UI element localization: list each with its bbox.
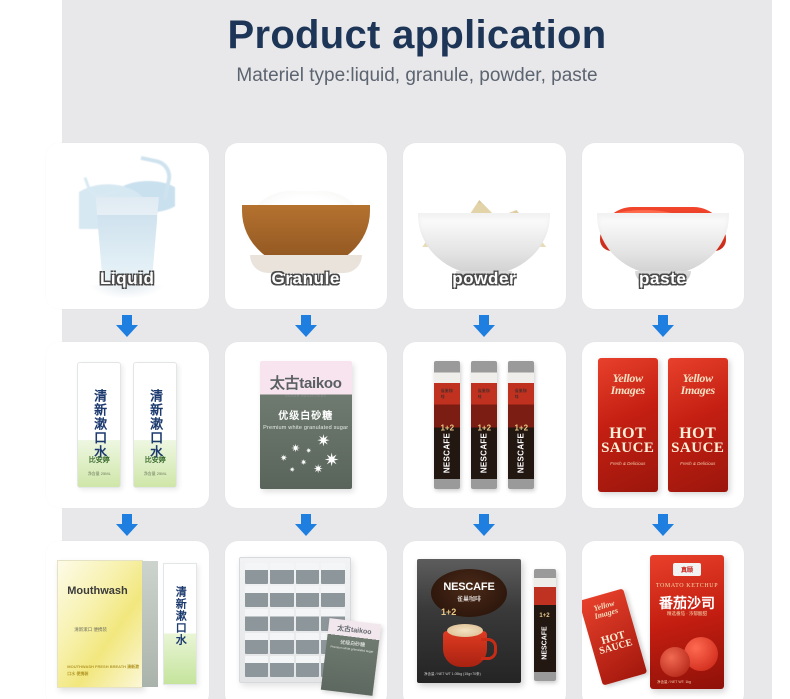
mouthwash-sachet: 清新漱口水 比安婷 净含量 25ML [77,362,121,488]
hot-sauce-subtitle: Fresh & Delicious [680,461,715,466]
nescafe-stick: 雀巢咖啡 1+2 NESCAFE [508,361,534,489]
ketchup-pouch-image: 真颐 TOMATO KETCHUP 番茄沙司 精选番茄 · 浓郁酸甜 净含量 /… [582,541,745,699]
sachet-card-mouthwash[interactable]: 清新漱口水 比安婷 净含量 25ML 清新漱口水 比安婷 净含量 25ML [46,342,209,508]
arrow-cell [46,508,209,541]
header: Product application Materiel type:liquid… [62,12,772,87]
sachet-thumb [270,656,294,677]
retail-card-ketchup[interactable]: 真颐 TOMATO KETCHUP 番茄沙司 精选番茄 · 浓郁酸甜 净含量 /… [582,541,745,699]
box-variant: 1+2 [441,607,456,617]
taikoo-sugar-sachet-image: 太古taikoo SUGAR INDUSTRIES 优级白砂糖 Premium … [225,342,388,508]
sachet-brand: 比安婷 [89,455,110,465]
box-cn-text: 雀巢咖啡 [457,594,481,603]
mouthwash-sachet: 清新漱口水 [163,563,197,685]
sugar-bulk-bag-image: 太古taikoo 优级白砂糖 Premium white granulated … [225,541,388,699]
stick-variant: 1+2 [477,423,491,432]
mouthwash-box-image: Mouthwash 清新漱口 便携装 MOUTHWASH FRESH BREAT… [46,541,209,699]
pouch-net-weight: 净含量 / NET WT: 1kg [657,680,691,685]
retail-card-coffee[interactable]: NESCAFE 雀巢咖啡 1+2 净含量 / NET WT 1.05kg (15… [403,541,566,699]
nescafe-stick: 雀巢咖啡 1+2 NESCAFE [434,361,460,489]
arrow-down-icon [470,315,498,337]
sachet-thumb [245,586,269,607]
taikoo-logo: 太古taikoo [336,623,372,637]
hot-sauce-line2: SAUCE [601,441,654,456]
stick-cn-text: 雀巢咖啡 [515,388,528,400]
arrow-down-icon [113,514,141,536]
hot-sauce-script-logo: Yellow Images [582,596,630,624]
sachet-thumb [245,609,269,630]
material-card-paste[interactable]: paste [582,143,745,309]
retail-card-sugar[interactable]: 太古taikoo 优级白砂糖 Premium white granulated … [225,541,388,699]
stick-brand: NESCAFE [480,433,489,473]
arrow-down-icon [649,514,677,536]
sachet-cn-text: 清新漱口水 [148,389,162,459]
box-brand: NESCAFE [443,581,494,593]
arrow-down-icon [470,514,498,536]
taikoo-logo: 太古taikoo [270,372,342,393]
retail-card-mouthwash[interactable]: Mouthwash 清新漱口 便携装 MOUTHWASH FRESH BREAT… [46,541,209,699]
sachet-thumb [270,563,294,584]
arrow-row-one [46,309,744,342]
sachet-brand: 比安婷 [145,455,166,465]
sachet-thumb [270,609,294,630]
box-side-panel [142,561,158,687]
hot-sauce-subtitle: Fresh & Delicious [610,461,645,466]
pouch-cn-text: 番茄沙司 [659,593,715,613]
hot-sauce-sachet: Yellow Images HOT SAUCE Fresh & Deliciou… [668,358,728,492]
white-bowl-icon [597,213,729,275]
sachet-thumb [296,563,320,584]
mouthwash-box: Mouthwash 清新漱口 便携装 MOUTHWASH FRESH BREAT… [57,560,143,688]
stick-variant: 1+2 [440,423,454,432]
material-card-powder[interactable]: powder [403,143,566,309]
sachet-thumb [296,609,320,630]
stick-cn-text: 雀巢咖啡 [478,388,491,400]
wooden-bowl-icon [242,205,370,269]
nescafe-box: NESCAFE 雀巢咖啡 1+2 净含量 / NET WT 1.05kg (15… [417,559,521,683]
box-label: Mouthwash [67,585,128,597]
application-grid: Liquid Granule powder [46,143,744,699]
product-application-infographic: Product application Materiel type:liquid… [0,0,790,699]
pouch-en-text: TOMATO KETCHUP [656,583,718,589]
sachet-thumb [296,656,320,677]
hot-sauce-sachets-image: Yellow Images HOT SAUCE Fresh & Deliciou… [582,342,745,508]
arrow-down-icon [292,514,320,536]
hot-sauce-sachet: Yellow Images HOT SAUCE [582,588,647,685]
stick-brand: NESCAFE [541,626,548,659]
retail-row: Mouthwash 清新漱口 便携装 MOUTHWASH FRESH BREAT… [46,541,744,699]
sachet-thumb [245,633,269,654]
sachet-net-weight: 净含量 25ML [88,471,111,477]
hot-sauce-line1: HOT [679,426,716,441]
arrow-cell [582,309,745,342]
arrow-cell [225,508,388,541]
nescafe-stick: 1+2 NESCAFE [534,569,556,681]
mouthwash-sachets-image: 清新漱口水 比安婷 净含量 25ML 清新漱口水 比安婷 净含量 25ML [46,342,209,508]
hot-sauce-line1: HOT [609,426,646,441]
sachet-thumb [245,656,269,677]
brand-seal: 真颐 [673,563,701,576]
hot-sauce-sachet: Yellow Images HOT SAUCE Fresh & Deliciou… [598,358,658,492]
sparkle-stars-icon: ✷ ✷ ✷ ✷ ✷ ✷ ✷ ✷ [260,431,352,489]
taikoo-sachet: 太古taikoo SUGAR INDUSTRIES 优级白砂糖 Premium … [260,361,352,489]
nescafe-stick: 雀巢咖啡 1+2 NESCAFE [471,361,497,489]
stick-brand: NESCAFE [517,433,526,473]
stick-variant: 1+2 [539,613,549,619]
sachet-card-hot-sauce[interactable]: Yellow Images HOT SAUCE Fresh & Deliciou… [582,342,745,508]
material-card-liquid[interactable]: Liquid [46,143,209,309]
materials-row: Liquid Granule powder [46,143,744,309]
stick-variant: 1+2 [514,423,528,432]
box-footer-text: MOUTHWASH FRESH BREATH 清新漱口水 便携装 [67,664,142,677]
nescafe-box-image: NESCAFE 雀巢咖啡 1+2 净含量 / NET WT 1.05kg (15… [403,541,566,699]
mouthwash-sachet: 清新漱口水 比安婷 净含量 25ML [133,362,177,488]
sachet-card-coffee[interactable]: 雀巢咖啡 1+2 NESCAFE 雀巢咖啡 1+2 NESCAFE 雀巢咖啡 1… [403,342,566,508]
arrow-cell [225,309,388,342]
pouch-cn-subtitle: 精选番茄 · 浓郁酸甜 [667,611,707,617]
arrow-row-two [46,508,744,541]
taikoo-logo-subtitle: SUGAR INDUSTRIES [285,394,326,398]
box-net-weight: 净含量 / NET WT 1.05kg (15g×70条) [424,672,481,678]
material-caption: powder [403,269,566,289]
sachet-thumb [270,633,294,654]
arrow-down-icon [292,315,320,337]
page-title: Product application [62,12,772,59]
sachet-card-sugar[interactable]: 太古taikoo SUGAR INDUSTRIES 优级白砂糖 Premium … [225,342,388,508]
arrow-cell [403,508,566,541]
stick-brand: NESCAFE [443,433,452,473]
sachet-net-weight: 净含量 25ML [144,471,167,477]
arrow-cell [403,309,566,342]
sachet-thumb [245,563,269,584]
stick-cn-text: 雀巢咖啡 [441,388,454,400]
nescafe-sticks-image: 雀巢咖啡 1+2 NESCAFE 雀巢咖啡 1+2 NESCAFE 雀巢咖啡 1… [403,342,566,508]
loose-sugar-sachet: 太古taikoo 优级白砂糖 Premium white granulated … [321,618,381,696]
material-caption: Liquid [46,269,209,289]
white-bowl-icon [418,213,550,275]
arrow-cell [46,309,209,342]
hot-sauce-line2: SAUCE [671,441,724,456]
sachet-thumb [270,586,294,607]
material-caption: paste [582,269,745,289]
hot-sauce-script-logo: Yellow Images [598,372,658,396]
tomato-icon [660,647,690,677]
sachet-cn-text: 优级白砂糖 [278,407,333,422]
sachets-row: 清新漱口水 比安婷 净含量 25ML 清新漱口水 比安婷 净含量 25ML 太古… [46,342,744,508]
sachet-cn-text: 清新漱口水 [92,389,106,459]
box-cn-text: 清新漱口 便携装 [74,627,107,634]
sachet-cn-text: 清新漱口水 [172,586,188,684]
hot-sauce-script-logo: Yellow Images [668,372,728,396]
sachet-thumb [321,563,345,584]
material-card-granule[interactable]: Granule [225,143,388,309]
sachet-thumb [296,586,320,607]
page-subtitle: Materiel type:liquid, granule, powder, p… [62,65,772,87]
coffee-mug-icon [443,631,487,667]
ketchup-pouch: 真颐 TOMATO KETCHUP 番茄沙司 精选番茄 · 浓郁酸甜 净含量 /… [650,555,724,689]
arrow-down-icon [113,315,141,337]
arrow-down-icon [649,315,677,337]
sachet-thumb [321,586,345,607]
sachet-thumb [296,633,320,654]
material-caption: Granule [225,269,388,289]
arrow-cell [582,508,745,541]
